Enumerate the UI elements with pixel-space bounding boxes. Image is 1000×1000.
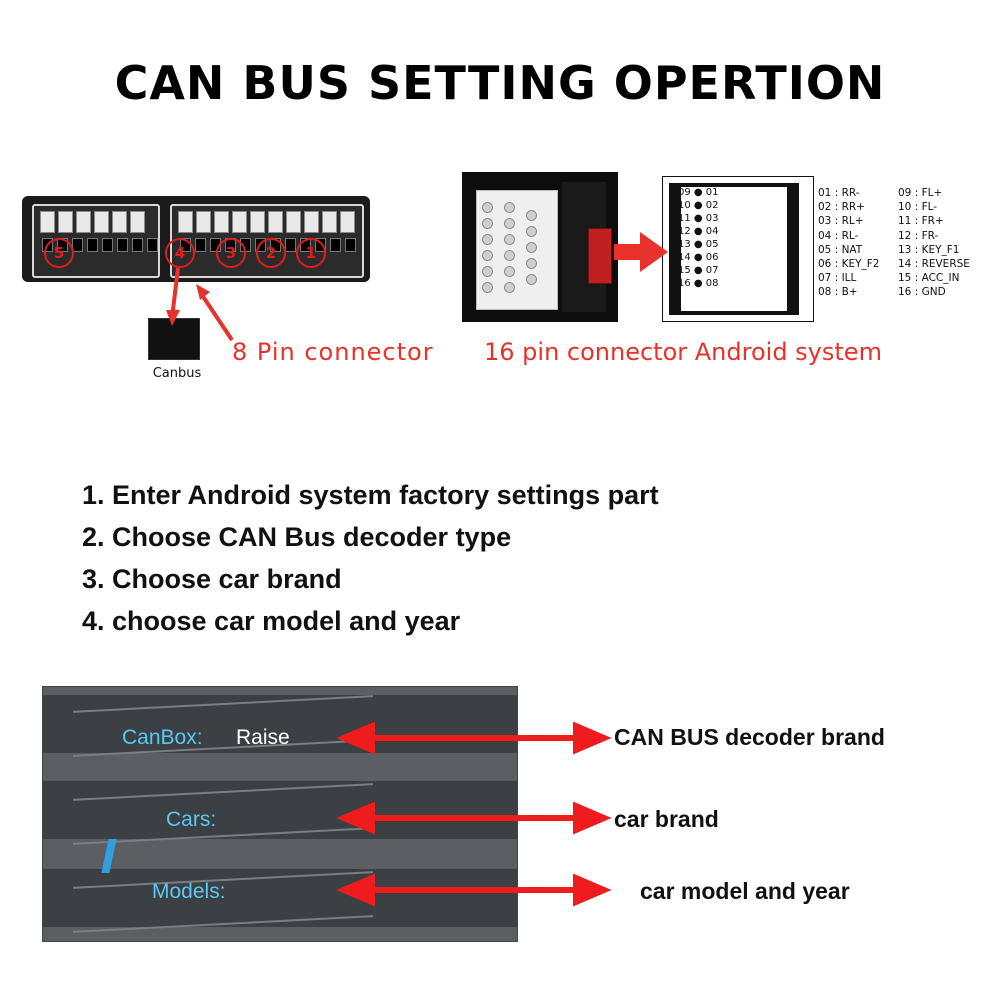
- steps-list: 1. Enter Android system factory settings…: [82, 474, 942, 642]
- cars-row-label: Cars:: [166, 808, 216, 832]
- pin-row: [40, 211, 145, 233]
- callout-car-brand: car brand: [614, 806, 719, 833]
- step-1: 1. Enter Android system factory settings…: [82, 474, 942, 516]
- canbus-module-image: [148, 318, 200, 360]
- badge-2: 2: [256, 238, 286, 268]
- pinout-legend-left: 01 : RR- 02 : RR+ 03 : RL+ 04 : RL- 05 :…: [818, 186, 879, 300]
- badge-4: 4: [165, 238, 195, 268]
- callout-car-model-year: car model and year: [640, 878, 850, 905]
- step-4: 4. choose car model and year: [82, 600, 942, 642]
- step-3: 3. Choose car brand: [82, 558, 942, 600]
- canbox-row-value[interactable]: Raise: [236, 726, 290, 750]
- step-2: 2. Choose CAN Bus decoder type: [82, 516, 942, 558]
- 8-pin-connector-label: 8 Pin connector: [232, 338, 434, 366]
- pinout-numbers: 09 ● 01 10 ● 02 11 ● 03 12 ● 04 13 ● 05 …: [678, 186, 719, 290]
- pin-row: [178, 211, 355, 233]
- badge-5: 5: [44, 238, 74, 268]
- canbus-label: Canbus: [142, 366, 212, 381]
- selection-indicator: [101, 839, 116, 873]
- canbox-row-label: CanBox:: [122, 726, 203, 750]
- pinout-legend-right: 09 : FL+ 10 : FL- 11 : FR+ 12 : FR- 13 :…: [898, 186, 970, 300]
- page-title: CAN BUS SETTING OPERTION: [0, 56, 1000, 110]
- badge-3: 3: [216, 238, 246, 268]
- red-connector-highlight: [588, 228, 612, 284]
- callout-decoder-brand: CAN BUS decoder brand: [614, 724, 885, 751]
- android-settings-screenshot: [42, 686, 518, 942]
- badge-1: 1: [296, 238, 326, 268]
- models-row-label: Models:: [152, 880, 226, 904]
- 16-pin-connector-label: 16 pin connector Android system: [484, 338, 882, 366]
